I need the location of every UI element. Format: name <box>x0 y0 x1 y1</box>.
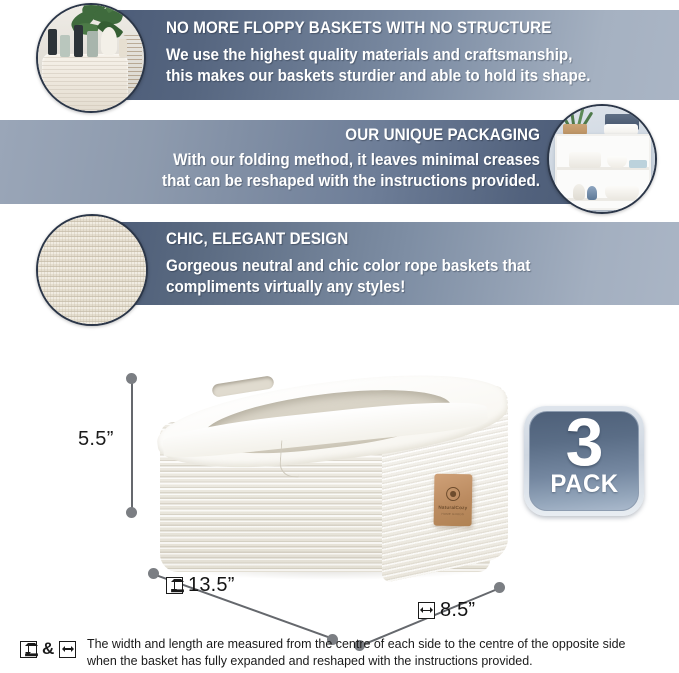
brand-logo-icon <box>446 487 460 501</box>
hang-tag-subtitle: HOME GOODS <box>434 512 472 517</box>
feature-title: NO MORE FLOPPY BASKETS WITH NO STRUCTURE <box>166 20 638 37</box>
feature-body-line-2: this makes our baskets sturdier and able… <box>166 66 648 87</box>
horizontal-arrow-icon <box>59 641 76 658</box>
feature-body-line-2: that can be reshaped with the instructio… <box>32 171 540 192</box>
rope-texture-photo <box>36 214 148 326</box>
feature-body-line-1: We use the highest quality materials and… <box>166 45 648 66</box>
textured-vase <box>101 27 117 55</box>
ampersand-label: & <box>42 639 54 659</box>
bottle-dark <box>48 29 57 55</box>
white-shelf <box>555 134 651 210</box>
blue-vase <box>587 186 597 200</box>
pack-count-word: PACK <box>550 472 618 497</box>
height-dimension-line <box>131 378 133 512</box>
measurement-footnote: & The width and length are measured from… <box>20 636 660 668</box>
white-basket <box>42 53 128 111</box>
infographic-canvas: NO MORE FLOPPY BASKETS WITH NO STRUCTURE… <box>0 0 679 673</box>
feature-body: Gorgeous neutral and chic color rope bas… <box>166 256 648 297</box>
pump-bottle <box>74 25 83 57</box>
bathroom-basket-photo <box>36 3 146 113</box>
width-value: 8.5” <box>440 599 475 622</box>
feature-body-line-1: Gorgeous neutral and chic color rope bas… <box>166 256 648 277</box>
feature-body: We use the highest quality materials and… <box>166 45 648 86</box>
horizontal-arrow-icon <box>418 602 435 619</box>
bottle-green <box>87 31 98 57</box>
footnote-line-1: The width and length are measured from t… <box>87 636 626 653</box>
height-marker-top <box>126 373 137 384</box>
feature-banner-no-floppy-baskets: NO MORE FLOPPY BASKETS WITH NO STRUCTURE… <box>108 10 679 100</box>
feature-body-line-2: compliments virtually any styles! <box>166 277 648 298</box>
rope-weave-texture <box>38 216 146 324</box>
footnote-line-2: when the basket has fully expanded and r… <box>87 653 626 670</box>
vertical-arrow-icon <box>20 641 37 658</box>
small-jar <box>119 39 127 57</box>
height-marker-bottom <box>126 507 137 518</box>
feature-body-line-1: With our folding method, it leaves minim… <box>32 150 540 171</box>
pack-badge-inner: 3 PACK <box>529 411 639 511</box>
shelf-basket-middle <box>569 152 601 168</box>
hang-tag: NaturalCozy HOME GOODS <box>434 474 473 527</box>
pack-count-badge: 3 PACK <box>524 406 644 516</box>
feature-title: CHIC, ELEGANT DESIGN <box>166 231 638 248</box>
shelf-basket-bottom <box>605 186 639 200</box>
feature-title: OUR UNIQUE PACKAGING <box>43 127 540 144</box>
length-marker-start <box>148 568 159 579</box>
bottle-sage <box>60 35 70 57</box>
folded-towel <box>629 160 647 168</box>
height-dimension-label: 5.5” <box>78 428 114 451</box>
width-marker-end <box>494 582 505 593</box>
length-dimension-label: 13.5” <box>166 574 235 597</box>
width-dimension-label: 8.5” <box>418 599 475 622</box>
vertical-arrow-icon <box>166 577 183 594</box>
feature-banner-chic-elegant-design: CHIC, ELEGANT DESIGN Gorgeous neutral an… <box>108 222 679 305</box>
hang-tag-brand: NaturalCozy <box>434 505 472 511</box>
shelf-baskets-photo <box>547 104 657 214</box>
length-value: 13.5” <box>188 574 235 597</box>
pack-count-number: 3 <box>566 411 603 476</box>
footnote-icons: & <box>20 636 76 659</box>
vase-small <box>573 184 585 200</box>
footnote-text: The width and length are measured from t… <box>82 636 625 671</box>
hang-tag-string <box>279 440 301 477</box>
white-rope-storage-basket <box>150 360 530 610</box>
shelf-bowl <box>607 156 627 168</box>
feature-body: With our folding method, it leaves minim… <box>32 150 540 191</box>
feature-banner-unique-packaging: OUR UNIQUE PACKAGING With our folding me… <box>0 120 600 204</box>
